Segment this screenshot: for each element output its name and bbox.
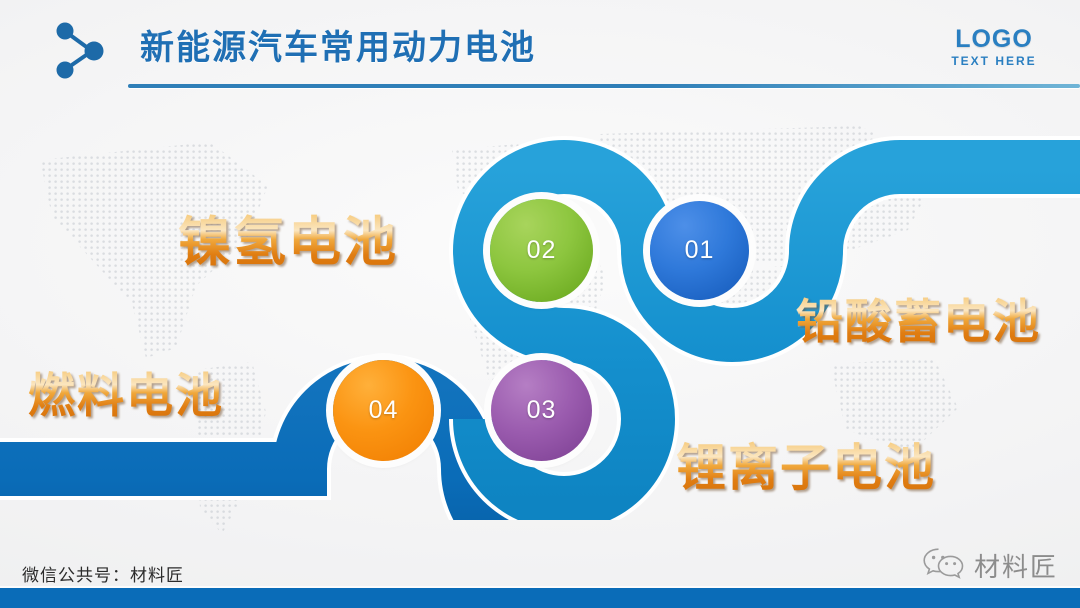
- node-label-02-nimh: 镍氢电池: [178, 200, 398, 276]
- logo-main-text: LOGO: [934, 26, 1054, 53]
- share-nodes-icon: [52, 22, 114, 80]
- wechat-icon: [921, 546, 967, 585]
- process-node-01[interactable]: 01: [650, 201, 749, 300]
- node-label-01-lead: 铅酸蓄电池: [796, 283, 1041, 352]
- wechat-badge: 材料匠: [921, 546, 1058, 585]
- logo-sub-text: TEXT HERE: [934, 53, 1054, 69]
- process-node-04-number: 04: [369, 396, 399, 425]
- wechat-badge-text: 材料匠: [974, 547, 1058, 584]
- footer-credit: 微信公共号：材料匠: [22, 561, 184, 586]
- slide-canvas: 新能源汽车常用动力电池 LOGO TEXT HERE: [0, 0, 1080, 608]
- process-node-02[interactable]: 02: [490, 199, 593, 302]
- header-underline: [128, 84, 1080, 88]
- process-node-02-number: 02: [527, 236, 557, 265]
- process-node-04[interactable]: 04: [333, 360, 434, 461]
- logo[interactable]: LOGO TEXT HERE: [934, 26, 1054, 69]
- node-label-04-fuel: 燃料电池: [28, 357, 224, 426]
- node-label-03-lithium: 锂离子电池: [676, 428, 936, 500]
- process-node-03[interactable]: 03: [491, 360, 592, 461]
- process-node-01-number: 01: [685, 236, 715, 265]
- process-node-03-number: 03: [527, 396, 557, 425]
- bottom-accent-bar: [0, 588, 1080, 608]
- page-title: 新能源汽车常用动力电池: [140, 26, 536, 70]
- slide-header: 新能源汽车常用动力电池 LOGO TEXT HERE: [0, 0, 1080, 100]
